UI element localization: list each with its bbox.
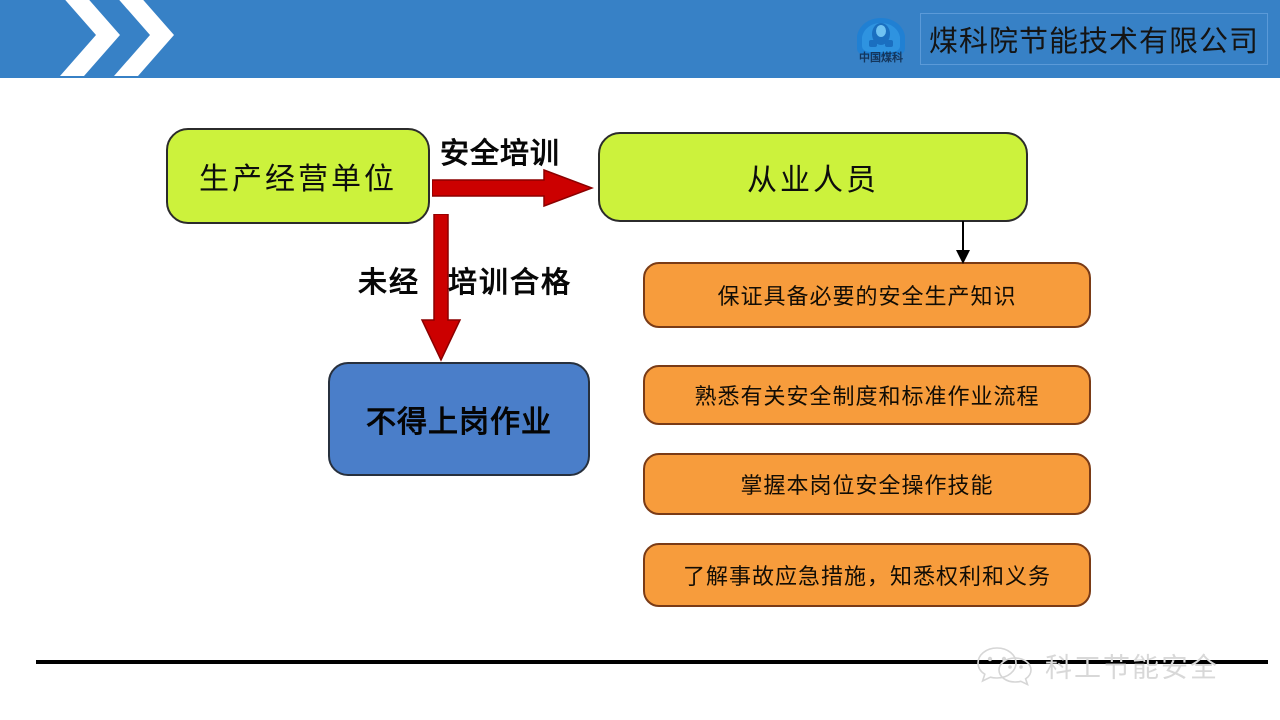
- label-training-qualified: 培训合格: [448, 259, 572, 301]
- node-production-unit-label: 生产经营单位: [199, 154, 397, 198]
- requirement-box-3: 掌握本岗位安全操作技能: [643, 453, 1091, 515]
- requirement-box-4: 了解事故应急措施，知悉权利和义务: [643, 543, 1091, 607]
- logo-caption: 中国煤科: [845, 52, 917, 64]
- footer-watermark: 科工节能安全: [975, 640, 1275, 690]
- company-name: 煤科院节能技术有限公司: [929, 18, 1259, 60]
- watermark-text: 科工节能安全: [1045, 646, 1219, 685]
- requirement-label-3: 掌握本岗位安全操作技能: [740, 468, 993, 500]
- double-chevron-right-icon: [52, 0, 182, 80]
- company-name-box: 煤科院节能技术有限公司: [920, 13, 1268, 65]
- requirement-label-2: 熟悉有关安全制度和标准作业流程: [694, 379, 1039, 411]
- requirement-box-1: 保证具备必要的安全生产知识: [643, 262, 1091, 328]
- requirement-label-1: 保证具备必要的安全生产知识: [717, 279, 1016, 311]
- node-production-unit: 生产经营单位: [166, 128, 430, 224]
- requirement-label-4: 了解事故应急措施，知悉权利和义务: [683, 559, 1051, 591]
- header-band: 中国煤科 煤科院节能技术有限公司: [0, 0, 1280, 78]
- label-safety-training: 安全培训: [440, 130, 560, 172]
- arrow-employees-to-requirements-icon: [950, 221, 976, 265]
- slide-canvas: 中国煤科 煤科院节能技术有限公司 生产经营单位 从业人员 不得上岗作业 保证具备…: [0, 0, 1280, 720]
- requirement-box-2: 熟悉有关安全制度和标准作业流程: [643, 365, 1091, 425]
- node-employees-label: 从业人员: [747, 155, 879, 199]
- node-no-post-work-label: 不得上岗作业: [366, 397, 552, 441]
- label-not-passed: 未经: [358, 259, 420, 301]
- node-employees: 从业人员: [598, 132, 1028, 222]
- node-no-post-work: 不得上岗作业: [328, 362, 590, 476]
- wechat-icon: [975, 644, 1037, 686]
- arrow-safety-training-icon: [432, 168, 594, 208]
